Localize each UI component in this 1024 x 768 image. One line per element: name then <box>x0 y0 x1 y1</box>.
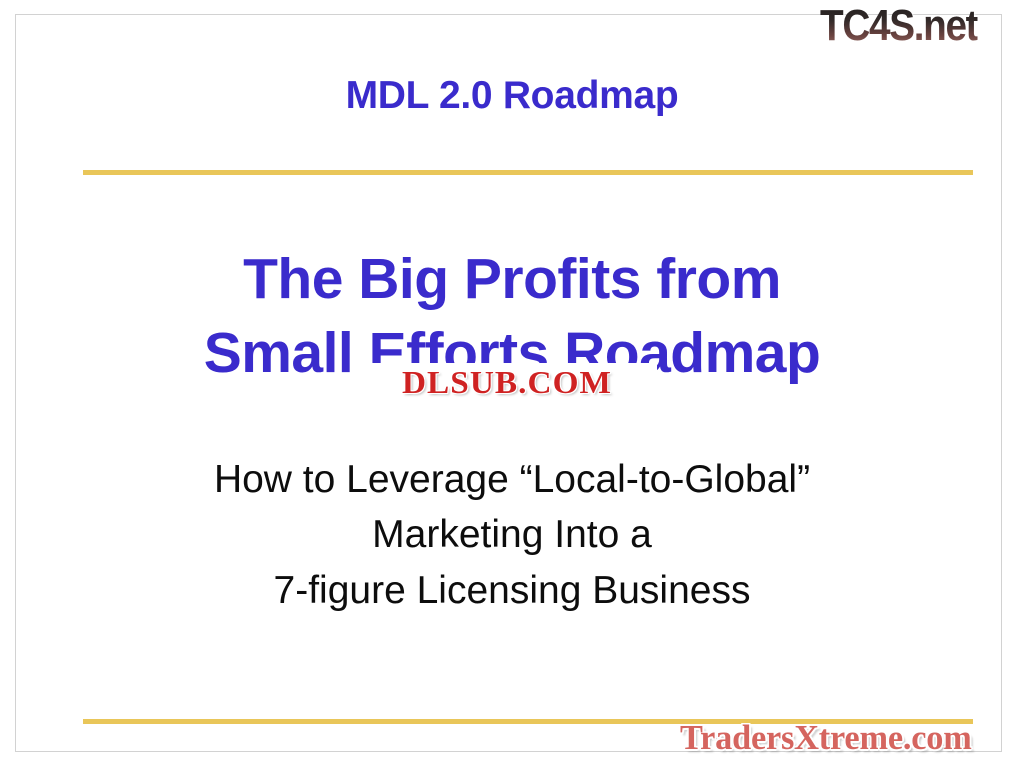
subtitle-line-2: Marketing Into a <box>0 507 1024 562</box>
watermark-dlsub: DLSUB.COM <box>357 363 657 401</box>
divider-top <box>83 170 973 175</box>
divider-bottom <box>83 719 973 724</box>
subtitle: How to Leverage “Local-to-Global” Market… <box>0 452 1024 618</box>
headline-line-1: The Big Profits from <box>0 242 1024 316</box>
page-title: MDL 2.0 Roadmap <box>0 76 1024 117</box>
watermark-dlsub-label: DLSUB.COM <box>402 364 612 401</box>
subtitle-line-3: 7-figure Licensing Business <box>0 563 1024 618</box>
subtitle-line-1: How to Leverage “Local-to-Global” <box>0 452 1024 507</box>
